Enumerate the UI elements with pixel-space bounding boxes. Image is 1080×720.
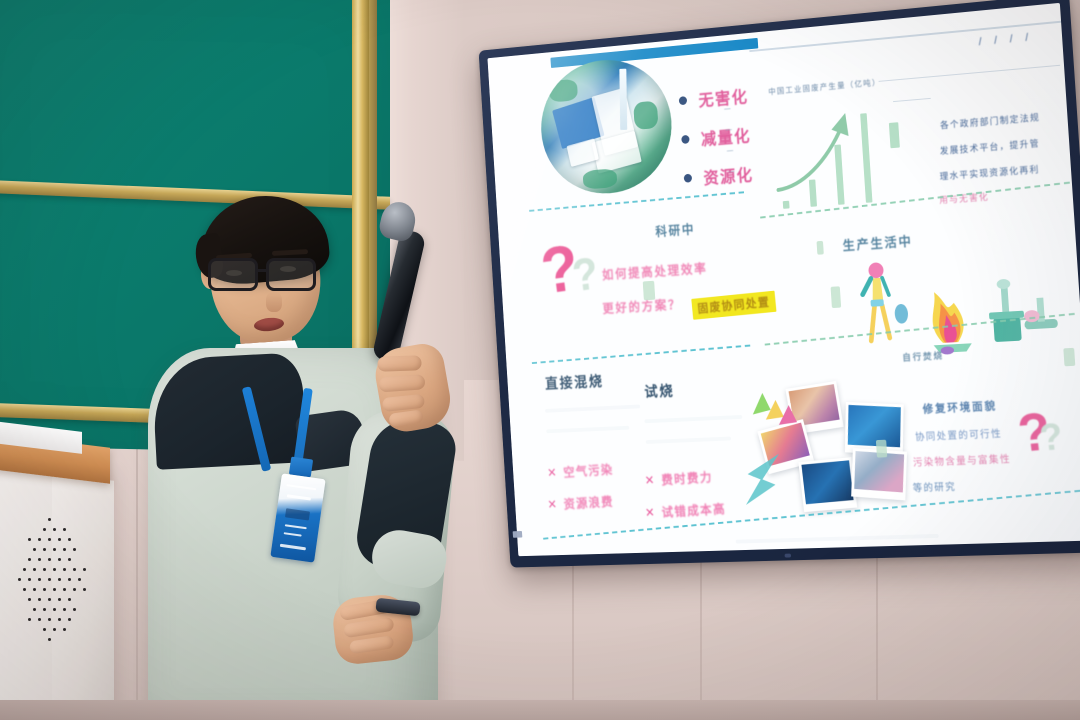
drawback-label: 试错成本高: [661, 499, 727, 521]
left-question-line: 如何提高处理效率: [601, 258, 708, 283]
goal-item: 减量化: [681, 122, 752, 152]
presenter-glasses: [208, 258, 332, 292]
cross-icon: ✕: [547, 465, 558, 480]
growth-arrow-icon: [769, 87, 905, 198]
chart-axis-tick: —: [728, 168, 736, 175]
confetti-illustration: [746, 383, 803, 432]
placeholder-line: [646, 437, 731, 444]
section-heading-production: 生产生活中: [842, 231, 913, 254]
drawback-item: ✕ 费时费力: [644, 467, 713, 489]
drawback-label: 资源浪费: [563, 492, 614, 513]
presenter: [148, 196, 438, 720]
presentation-scene: 无害化 减量化 资源化 — — — —: [0, 0, 1080, 720]
drawback-label: 空气污染: [563, 460, 614, 481]
drawback-item: ✕ 试错成本高: [644, 499, 726, 522]
section-divider: [532, 345, 750, 365]
aerial-plant-photo: [537, 54, 675, 198]
glasses-lens-right: [266, 258, 316, 291]
deco-chip: [817, 241, 824, 255]
deco-chip: [643, 281, 656, 301]
illustration-caption: 自行焚烧: [902, 349, 944, 364]
slide-accent-bar: [550, 38, 758, 68]
cross-icon: ✕: [644, 505, 655, 521]
chart-bar: [783, 201, 790, 209]
cross-icon: ✕: [644, 472, 655, 488]
placeholder-line: [644, 415, 742, 423]
right-note-rule: [879, 65, 1061, 82]
goal-item: 资源化: [683, 161, 754, 190]
bottom-right-title: 修复环境面貌: [922, 397, 997, 416]
highlight-keyword-text: 固废协同处置: [697, 295, 771, 315]
glasses-lens-left: [208, 258, 258, 291]
bullet-dot-icon: [679, 96, 688, 105]
placeholder-line: [546, 426, 629, 433]
right-note-line: 各个政府部门制定法规: [940, 110, 1041, 131]
right-note-line: 发展技术平台，提升管: [939, 136, 1040, 157]
column-title-direct-burn: 直接混烧: [544, 371, 604, 394]
goal-item: 无害化: [678, 83, 749, 113]
teal-arrow-icon: [737, 450, 790, 513]
left-question-line: 更好的方案？: [602, 294, 682, 317]
bottom-right-line: 污染物含量与富集性: [912, 450, 1011, 469]
section-heading-research: 科研中: [655, 219, 696, 240]
bullet-dot-icon: [681, 135, 690, 144]
placeholder-line: [736, 534, 939, 544]
placeholder-line: [545, 405, 640, 413]
chart-axis-tick: —: [725, 126, 733, 133]
drawback-label: 费时费力: [661, 467, 714, 488]
right-note-line: 理水平实现资源化再利: [939, 162, 1040, 182]
bullet-dot-icon: [684, 174, 693, 183]
bottom-right-line: 等的研究: [912, 478, 956, 494]
deco-chip: [831, 286, 842, 308]
drawback-item: ✕ 空气污染: [547, 460, 615, 482]
drawback-item: ✕ 资源浪费: [547, 492, 615, 514]
screen-indicator-led: [784, 554, 791, 558]
chart-axis-tick: —: [724, 105, 732, 112]
slide-goal-list: 无害化 减量化 资源化: [678, 83, 755, 206]
presenter-nose: [266, 292, 282, 312]
screen-bezel: 无害化 减量化 资源化 — — — —: [479, 0, 1080, 568]
cross-icon: ✕: [547, 496, 558, 511]
right-note-heading-marks: / / / /: [978, 31, 1033, 48]
deco-chip: [876, 440, 887, 458]
column-title-trial-burn: 试烧: [644, 380, 675, 401]
bottom-right-line: 协同处置的可行性: [915, 425, 1003, 443]
collage-photo: [798, 457, 857, 512]
chart-axis-tick: —: [727, 147, 735, 154]
podium-speaker-grille: [18, 518, 90, 654]
slide-canvas: 无害化 减量化 资源化 — — — —: [487, 3, 1080, 556]
highlight-keyword: 固废协同处置: [691, 291, 776, 320]
screen-panel[interactable]: 无害化 减量化 资源化 — — — —: [487, 3, 1080, 556]
floor: [0, 700, 1080, 720]
presentation-screen[interactable]: 无害化 减量化 资源化 — — — —: [479, 0, 1080, 568]
question-mark-icon-shadow: ?: [570, 252, 601, 300]
deco-chip: [1063, 348, 1075, 366]
microphone-handle[interactable]: [371, 229, 426, 363]
screen-brand-tag: [513, 531, 523, 538]
process-illustration: [848, 249, 1064, 369]
question-mark-icon-shadow: ?: [1038, 418, 1065, 458]
